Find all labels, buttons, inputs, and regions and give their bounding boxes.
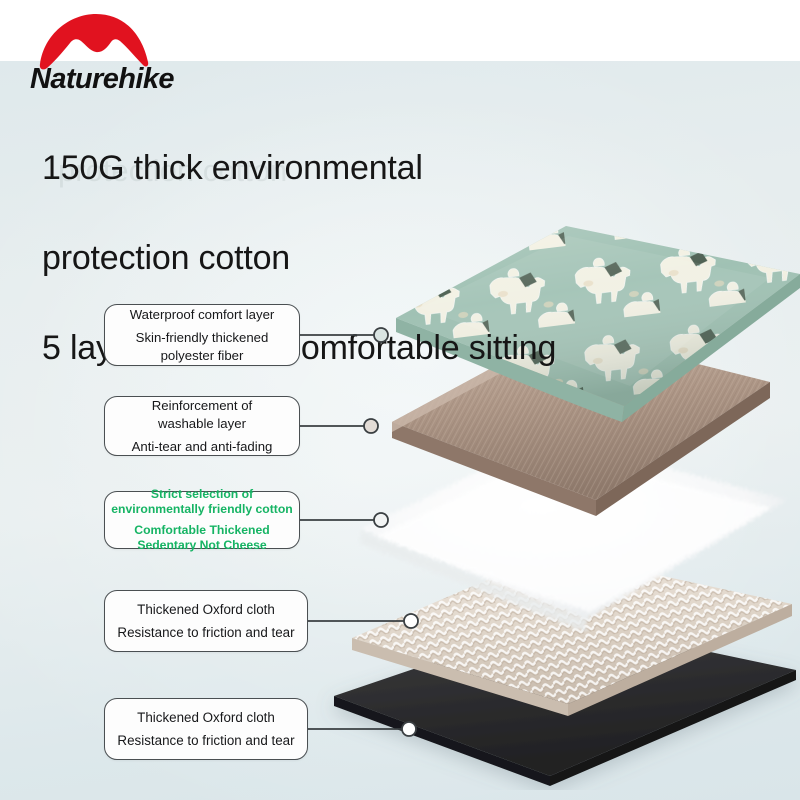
callout-text: Thickened Oxford cloth: [137, 601, 275, 619]
callout-group-b: Resistance to friction and tear: [117, 732, 294, 750]
callout-environmentally-friendly-cotton[interactable]: Strict selection of environmentally frie…: [104, 491, 300, 549]
callout-group-a: Waterproof comfort layer: [130, 306, 275, 324]
callout-reinforcement-washable-layer[interactable]: Reinforcement of washable layer Anti-tea…: [104, 396, 300, 456]
headline-line-2: protection cotton: [42, 239, 290, 277]
callout-group-b: Skin-friendly thickened polyester fiber: [136, 329, 269, 365]
callout-text: Strict selection of: [111, 487, 293, 503]
callout-thickened-oxford-cloth-upper[interactable]: Thickened Oxford cloth Resistance to fri…: [104, 590, 308, 652]
mountain-arc-icon: [40, 14, 148, 69]
callout-text: Sedentary Not Cheese: [134, 538, 269, 554]
callout-group-a: Reinforcement of washable layer: [152, 397, 252, 433]
callout-text: Anti-tear and anti-fading: [132, 438, 273, 456]
callout-group-a: Thickened Oxford cloth: [137, 601, 275, 619]
callout-text: Thickened Oxford cloth: [137, 709, 275, 727]
callout-text: Resistance to friction and tear: [117, 732, 294, 750]
page-headline: 150G thick environmental protection cott…: [42, 101, 742, 416]
callout-text: environmentally friendly cotton: [111, 502, 293, 518]
callout-group-a: Thickened Oxford cloth: [137, 709, 275, 727]
callout-thickened-oxford-cloth-lower[interactable]: Thickened Oxford cloth Resistance to fri…: [104, 698, 308, 760]
callout-group-b: Anti-tear and anti-fading: [132, 438, 273, 456]
callout-group-b: Resistance to friction and tear: [117, 624, 294, 642]
callout-text: Skin-friendly thickened: [136, 329, 269, 347]
infographic-canvas: Naturehike protection cotton: [0, 0, 800, 800]
headline-line-1: 150G thick environmental: [42, 149, 423, 187]
callout-group-a: Strict selection of environmentally frie…: [111, 487, 293, 518]
callout-group-b: Comfortable Thickened Sedentary Not Chee…: [134, 523, 269, 554]
callout-text: washable layer: [152, 415, 252, 433]
brand-wordmark: Naturehike: [30, 63, 174, 92]
callout-text: Resistance to friction and tear: [117, 624, 294, 642]
callout-text: Reinforcement of: [152, 397, 252, 415]
brand-logo: Naturehike: [28, 8, 218, 92]
callout-text: Comfortable Thickened: [134, 523, 269, 539]
callout-text: polyester fiber: [136, 347, 269, 365]
callout-waterproof-comfort-layer[interactable]: Waterproof comfort layer Skin-friendly t…: [104, 304, 300, 366]
callout-text: Waterproof comfort layer: [130, 306, 275, 324]
